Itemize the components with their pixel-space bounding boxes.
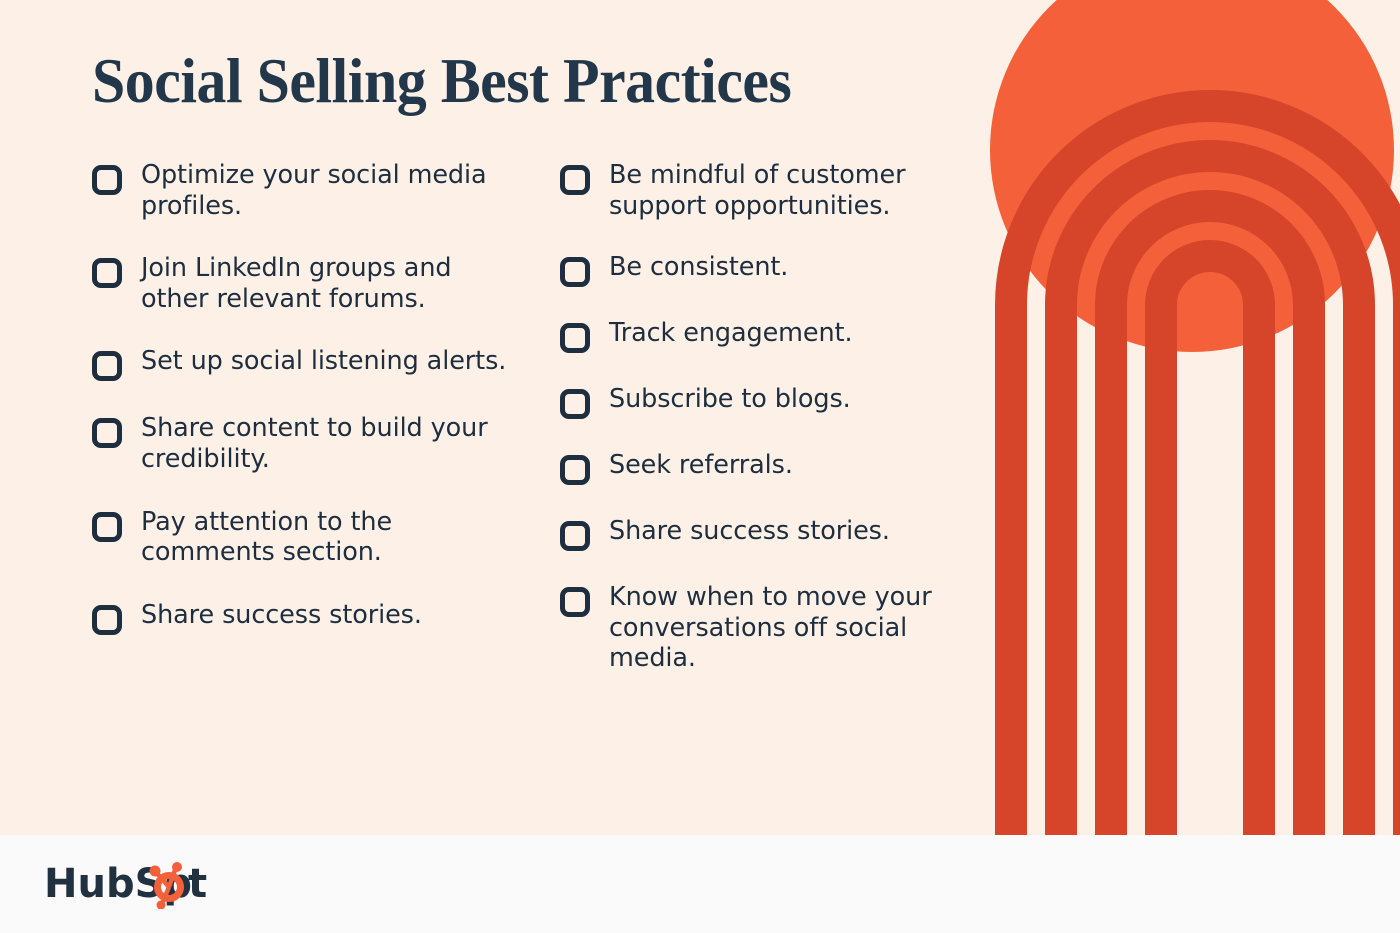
checklist-item[interactable]: Optimize your social media profiles. [92,160,522,221]
checklist-item-label: Set up social listening alerts. [141,346,506,377]
checkbox-icon[interactable] [560,323,590,353]
checkbox-icon[interactable] [560,587,590,617]
checklist-item-label: Subscribe to blogs. [609,384,851,415]
checklist-item-label: Track engagement. [609,318,852,349]
checklist-item-label: Share content to build your credibility. [141,413,522,474]
footer-bar: HubSp t [0,835,1400,933]
checkbox-icon[interactable] [560,521,590,551]
checklist-item-label: Join LinkedIn groups and other relevant … [141,253,522,314]
checkbox-icon[interactable] [92,258,122,288]
checklist-item-label: Seek referrals. [609,450,793,481]
checklist-item[interactable]: Share content to build your credibility. [92,413,522,474]
checkbox-icon[interactable] [560,257,590,287]
checkbox-icon[interactable] [560,165,590,195]
checkbox-icon[interactable] [92,351,122,381]
hubspot-logo[interactable]: HubSp t [44,859,224,909]
checklist-item[interactable]: Set up social listening alerts. [92,346,522,381]
checklist-item-label: Share success stories. [609,516,890,547]
checklist-column-left: Optimize your social media profiles. Joi… [92,160,522,667]
checkbox-icon[interactable] [560,455,590,485]
checklist-item[interactable]: Join LinkedIn groups and other relevant … [92,253,522,314]
infographic-canvas: Social Selling Best Practices Optimize y… [0,0,1400,933]
checklist-item-label: Share success stories. [141,600,422,631]
checklist-item[interactable]: Be consistent. [560,252,1000,287]
checklist-item[interactable]: Know when to move your conversations off… [560,582,1000,674]
checklist-item[interactable]: Be mindful of customer support opportuni… [560,160,1000,221]
checklist-item-label: Optimize your social media profiles. [141,160,522,221]
checklist-item-label: Know when to move your conversations off… [609,582,1000,674]
checklist-item[interactable]: Seek referrals. [560,450,1000,485]
checklist-item[interactable]: Share success stories. [92,600,522,635]
hubspot-wordmark-part-two: t [188,861,207,907]
checkbox-icon[interactable] [560,389,590,419]
checkbox-icon[interactable] [92,418,122,448]
checklist-column-right: Be mindful of customer support opportuni… [560,160,1000,705]
checklist-item-label: Pay attention to the comments section. [141,507,522,568]
checklist-item[interactable]: Track engagement. [560,318,1000,353]
checkbox-icon[interactable] [92,605,122,635]
page-title: Social Selling Best Practices [92,48,791,114]
checklist-item[interactable]: Pay attention to the comments section. [92,507,522,568]
checklist-item[interactable]: Share success stories. [560,516,1000,551]
checklist-item-label: Be consistent. [609,252,788,283]
checklist-item[interactable]: Subscribe to blogs. [560,384,1000,419]
main-content: Social Selling Best Practices Optimize y… [0,0,1400,835]
checkbox-icon[interactable] [92,512,122,542]
checklist-item-label: Be mindful of customer support opportuni… [609,160,1000,221]
checkbox-icon[interactable] [92,165,122,195]
